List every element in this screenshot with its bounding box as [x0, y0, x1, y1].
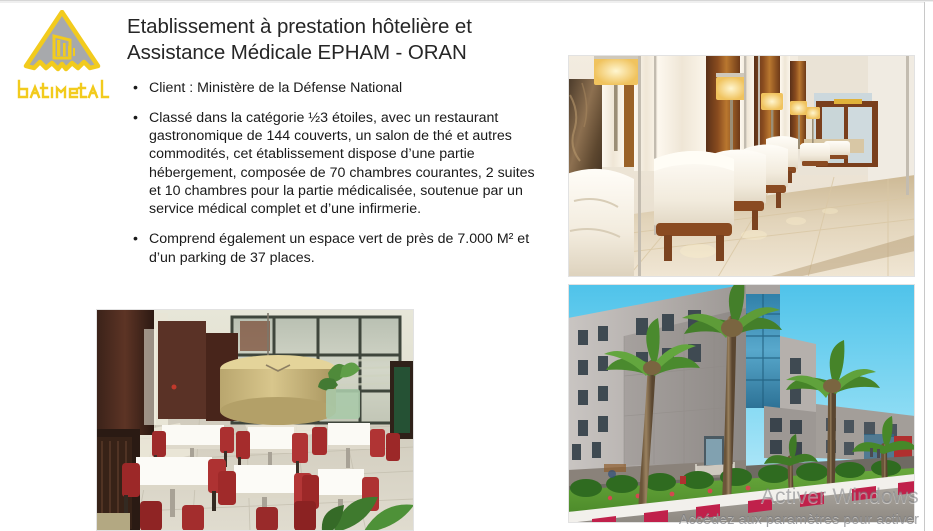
list-item: • Client : Ministère de la Défense Natio…	[127, 79, 547, 97]
list-item-text: Client : Ministère de la Défense Nationa…	[149, 80, 402, 96]
list-item-text: Classé dans la catégorie ½3 étoiles, ave…	[149, 110, 535, 217]
restaurant-illustration	[96, 309, 414, 531]
batimetal-logo	[14, 10, 110, 106]
hotel-lobby-photo	[568, 55, 915, 277]
viewer-right-border	[924, 2, 925, 531]
list-item: • Classé dans la catégorie ½3 étoiles, a…	[127, 109, 547, 219]
building-exterior-illustration	[568, 284, 915, 523]
batimetal-triangle-icon	[20, 10, 104, 82]
viewer-top-border	[0, 0, 933, 3]
list-item-text: Comprend également un espace vert de prè…	[149, 231, 529, 265]
bullet-marker-icon: •	[133, 230, 138, 248]
hotel-lobby-illustration	[568, 55, 915, 277]
batimetal-wordmark-icon	[16, 78, 110, 104]
slide-text-block: Etablissement à prestation hôtelière et …	[127, 14, 547, 279]
list-item: • Comprend également un espace vert de p…	[127, 230, 547, 267]
building-exterior-photo	[568, 284, 915, 523]
bullet-marker-icon: •	[133, 79, 138, 97]
viewer-right-gutter	[925, 2, 933, 531]
bullet-marker-icon: •	[133, 109, 138, 127]
page-title: Etablissement à prestation hôtelière et …	[127, 14, 547, 66]
restaurant-photo	[96, 309, 414, 531]
slide-viewer: Etablissement à prestation hôtelière et …	[0, 0, 933, 531]
bullet-list: • Client : Ministère de la Défense Natio…	[127, 79, 547, 267]
